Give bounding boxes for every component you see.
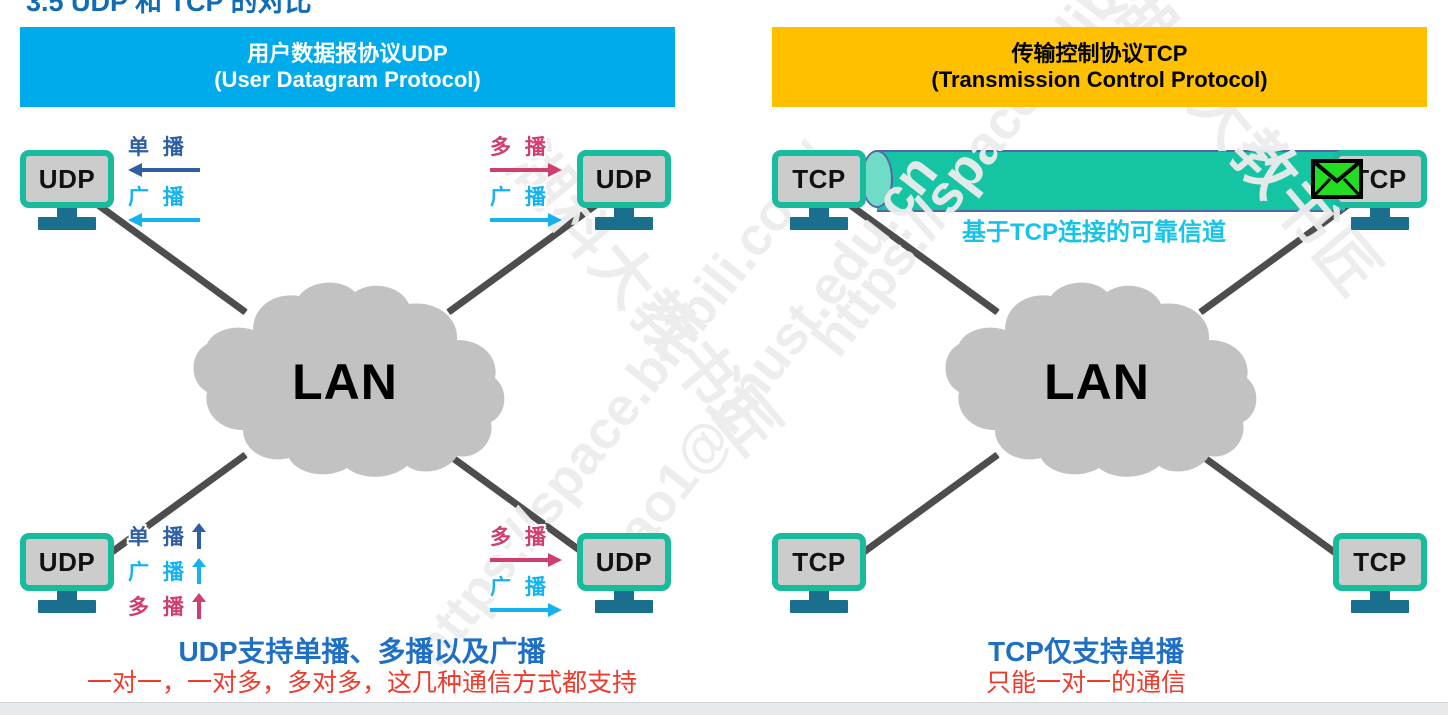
arrow-shaft: [197, 600, 201, 619]
udp-arrow-label-unicast-bl: 单 播: [128, 521, 188, 551]
tcp-node-top-left-label: TCP: [792, 164, 846, 195]
terminal-base: [38, 600, 96, 613]
tcp-header-line1: 传输控制协议TCP: [1011, 41, 1187, 67]
udp-panel-header: 用户数据报协议UDP (User Datagram Protocol): [20, 27, 675, 107]
udp-arrows-bottom-left: 单 播 广 播 多 播: [128, 521, 206, 626]
terminal-neck: [1370, 208, 1390, 217]
arrow-head-right: [548, 553, 562, 567]
tcp-node-bottom-right-label: TCP: [1353, 547, 1407, 578]
terminal-base: [38, 217, 96, 230]
udp-arrow-label-broadcast-bl: 广 播: [128, 556, 188, 586]
udp-arrow-label-broadcast-br: 广 播: [490, 571, 562, 601]
arrow-head-up: [192, 558, 206, 567]
slide-bottom-bar: [0, 702, 1448, 715]
udp-node-top-right-screen: UDP: [577, 150, 671, 208]
tcp-reliable-channel-pipe: [861, 150, 1361, 208]
terminal-neck: [614, 591, 634, 600]
udp-arrow-label-multicast-tr: 多 播: [490, 131, 562, 161]
udp-node-bottom-left[interactable]: UDP: [20, 533, 114, 613]
udp-arrow-line-broadcast-tr: [490, 213, 562, 227]
udp-arrow-row-multicast-bl: 多 播: [128, 591, 206, 621]
udp-arrow-row-unicast-bl: 单 播: [128, 521, 206, 551]
tcp-header-line2: (Transmission Control Protocol): [931, 67, 1267, 93]
terminal-base: [595, 217, 653, 230]
udp-node-bottom-right-screen: UDP: [577, 533, 671, 591]
udp-arrow-line-multicast-br: [490, 553, 562, 567]
arrow-shaft: [140, 168, 200, 172]
udp-node-top-right-label: UDP: [596, 164, 652, 195]
udp-arrows-top-left: 单 播 广 播: [128, 131, 200, 227]
udp-node-top-right[interactable]: UDP: [577, 150, 671, 230]
page-title: 3.5 UDP 和 TCP 的对比: [26, 0, 312, 19]
terminal-base: [790, 600, 848, 613]
udp-node-top-left-label: UDP: [39, 164, 95, 195]
udp-cloud-label: LAN: [175, 282, 515, 482]
udp-arrow-line-unicast-tl: [128, 163, 200, 177]
tcp-lan-cloud: LAN: [927, 282, 1267, 482]
tcp-node-top-left-screen: TCP: [772, 150, 866, 208]
udp-arrow-line-broadcast-tl: [128, 213, 200, 227]
udp-summary-caption: UDP支持单播、多播以及广播 一对一，一对多，多对多，这几种通信方式都支持: [0, 636, 724, 698]
pipe-body: [877, 150, 1345, 212]
udp-arrow-label-broadcast-tl: 广 播: [128, 181, 200, 211]
tcp-summary-sub: 只能一对一的通信: [724, 668, 1448, 698]
udp-header-line1: 用户数据报协议UDP: [247, 41, 447, 67]
terminal-neck: [614, 208, 634, 217]
arrow-shaft: [490, 608, 550, 612]
tcp-channel-caption: 基于TCP连接的可靠信道: [962, 212, 1226, 247]
udp-arrow-row-broadcast-bl: 广 播: [128, 556, 206, 586]
arrow-up-icon: [192, 593, 206, 619]
slide-canvas: 湖科大教书匠 https://space.bilibili.com/ jgao1…: [0, 0, 1448, 715]
udp-lan-cloud: LAN: [175, 282, 515, 482]
terminal-base: [1351, 600, 1409, 613]
tcp-summary-main: TCP仅支持单播: [724, 636, 1448, 668]
arrow-head-up: [192, 523, 206, 532]
udp-arrow-line-broadcast-br: [490, 603, 562, 617]
terminal-base: [595, 600, 653, 613]
tcp-node-bottom-left-label: TCP: [792, 547, 846, 578]
udp-header-line2: (User Datagram Protocol): [214, 67, 481, 93]
arrow-head-left: [128, 163, 142, 177]
terminal-neck: [57, 208, 77, 217]
envelope-icon: [1311, 159, 1363, 199]
udp-node-top-left-screen: UDP: [20, 150, 114, 208]
udp-arrow-line-multicast-tr: [490, 163, 562, 177]
arrow-head-right: [548, 163, 562, 177]
udp-arrow-label-multicast-br: 多 播: [490, 521, 562, 551]
tcp-node-bottom-left[interactable]: TCP: [772, 533, 866, 613]
arrow-shaft: [140, 218, 200, 222]
arrow-shaft: [197, 530, 201, 549]
arrow-head-left: [128, 213, 142, 227]
arrow-up-icon: [192, 558, 206, 584]
terminal-neck: [57, 591, 77, 600]
arrow-head-up: [192, 593, 206, 602]
udp-node-bottom-right-label: UDP: [596, 547, 652, 578]
udp-summary-sub: 一对一，一对多，多对多，这几种通信方式都支持: [0, 668, 724, 698]
terminal-base: [1351, 217, 1409, 230]
terminal-neck: [1370, 591, 1390, 600]
udp-node-top-left[interactable]: UDP: [20, 150, 114, 230]
arrow-head-right: [548, 603, 562, 617]
terminal-neck: [809, 591, 829, 600]
arrow-shaft: [490, 218, 550, 222]
udp-arrows-bottom-right: 多 播 广 播: [490, 521, 562, 617]
terminal-base: [790, 217, 848, 230]
udp-arrow-label-unicast-tl: 单 播: [128, 131, 200, 161]
arrow-shaft: [490, 168, 550, 172]
arrow-head-right: [548, 213, 562, 227]
terminal-neck: [809, 208, 829, 217]
arrow-up-icon: [192, 523, 206, 549]
tcp-panel-header: 传输控制协议TCP (Transmission Control Protocol…: [772, 27, 1427, 107]
udp-node-bottom-left-label: UDP: [39, 547, 95, 578]
udp-summary-main: UDP支持单播、多播以及广播: [0, 636, 724, 668]
udp-arrow-label-broadcast-tr: 广 播: [490, 181, 562, 211]
udp-node-bottom-left-screen: UDP: [20, 533, 114, 591]
arrow-shaft: [490, 558, 550, 562]
udp-node-bottom-right[interactable]: UDP: [577, 533, 671, 613]
tcp-node-bottom-left-screen: TCP: [772, 533, 866, 591]
tcp-node-top-left[interactable]: TCP: [772, 150, 866, 230]
udp-arrows-top-right: 多 播 广 播: [490, 131, 562, 227]
tcp-cloud-label: LAN: [927, 282, 1267, 482]
tcp-node-bottom-right-screen: TCP: [1333, 533, 1427, 591]
udp-arrow-label-multicast-bl: 多 播: [128, 591, 188, 621]
tcp-summary-caption: TCP仅支持单播 只能一对一的通信: [724, 636, 1448, 698]
arrow-shaft: [197, 565, 201, 584]
tcp-node-bottom-right[interactable]: TCP: [1333, 533, 1427, 613]
